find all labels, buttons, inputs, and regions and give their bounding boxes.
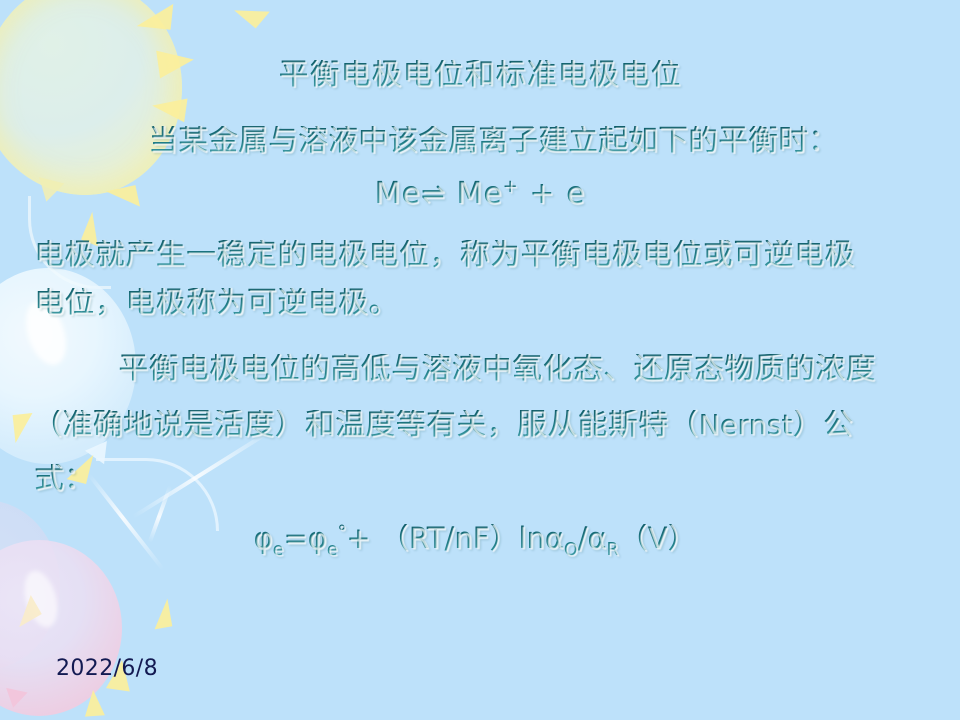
nernst-alpha-ox-subscript: O bbox=[564, 540, 578, 560]
nernst-unit-volt: V bbox=[648, 521, 668, 555]
nernst-phi-standard-subscript-e: e bbox=[327, 540, 338, 560]
equation-plus-operator: + bbox=[529, 176, 555, 211]
equation-charge-superscript: + bbox=[503, 176, 519, 197]
paragraph-nernst-line3: 式： bbox=[0, 464, 960, 494]
equation-nernst: φe=φe°+ （RT/nF）lnαO/αR（V） bbox=[0, 524, 960, 559]
slide-canvas: 平衡电极电位和标准电极电位 当某金属与溶液中该金属离子建立起如下的平衡时： Me… bbox=[0, 0, 960, 720]
nernst-alpha-red-subscript: R bbox=[607, 540, 619, 560]
nernst-text-prefix: （准确地说是活度）和温度等有关，服从能斯特（ bbox=[32, 408, 699, 441]
equilibrium-arrow-icon: ⇌ bbox=[421, 177, 446, 210]
nernst-open-paren: （ bbox=[380, 521, 409, 555]
nernst-name-latin: Nernst bbox=[699, 408, 793, 441]
paragraph-intro: 当某金属与溶液中该金属离子建立起如下的平衡时： bbox=[0, 126, 960, 156]
equation-half-cell: Me⇌ Me+ + e bbox=[0, 178, 960, 209]
paragraph-nernst-line2: （准确地说是活度）和温度等有关，服从能斯特（Nernst）公 bbox=[0, 410, 960, 440]
nernst-equals: = bbox=[283, 521, 307, 555]
nernst-close-paren: ） bbox=[489, 521, 518, 555]
nernst-degree-symbol: ° bbox=[338, 522, 347, 542]
nernst-rt-nf: RT/nF bbox=[409, 521, 490, 555]
paragraph-nernst-line1: 平衡电极电位的高低与溶液中氧化态、还原态物质的浓度 bbox=[0, 354, 960, 384]
paragraph-equilibrium-potential-line2: 电位，电极称为可逆电极。 bbox=[0, 288, 960, 318]
nernst-plus: + bbox=[346, 521, 370, 555]
nernst-slash: / bbox=[578, 521, 588, 555]
slide-title: 平衡电极电位和标准电极电位 bbox=[0, 60, 960, 90]
nernst-alpha-red: α bbox=[587, 521, 606, 555]
equation-left-species: Me bbox=[375, 176, 421, 211]
nernst-unit-open-paren: （ bbox=[619, 521, 648, 555]
date-stamp: 2022/6/8 bbox=[56, 656, 158, 681]
nernst-unit-close-paren: ） bbox=[667, 521, 696, 555]
equation-right-species: Me bbox=[456, 176, 502, 211]
nernst-text-suffix: ）公 bbox=[793, 408, 854, 441]
nernst-phi: φ bbox=[254, 521, 273, 555]
equation-electron: e bbox=[566, 176, 585, 211]
slide-content: 平衡电极电位和标准电极电位 当某金属与溶液中该金属离子建立起如下的平衡时： Me… bbox=[0, 0, 960, 720]
nernst-phi-subscript-e: e bbox=[273, 540, 284, 560]
nernst-phi-standard: φ bbox=[308, 521, 327, 555]
nernst-alpha-ox: α bbox=[545, 521, 564, 555]
nernst-ln: ln bbox=[518, 521, 544, 555]
paragraph-equilibrium-potential-line1: 电极就产生一稳定的电极电位，称为平衡电极电位或可逆电极 bbox=[0, 240, 960, 270]
